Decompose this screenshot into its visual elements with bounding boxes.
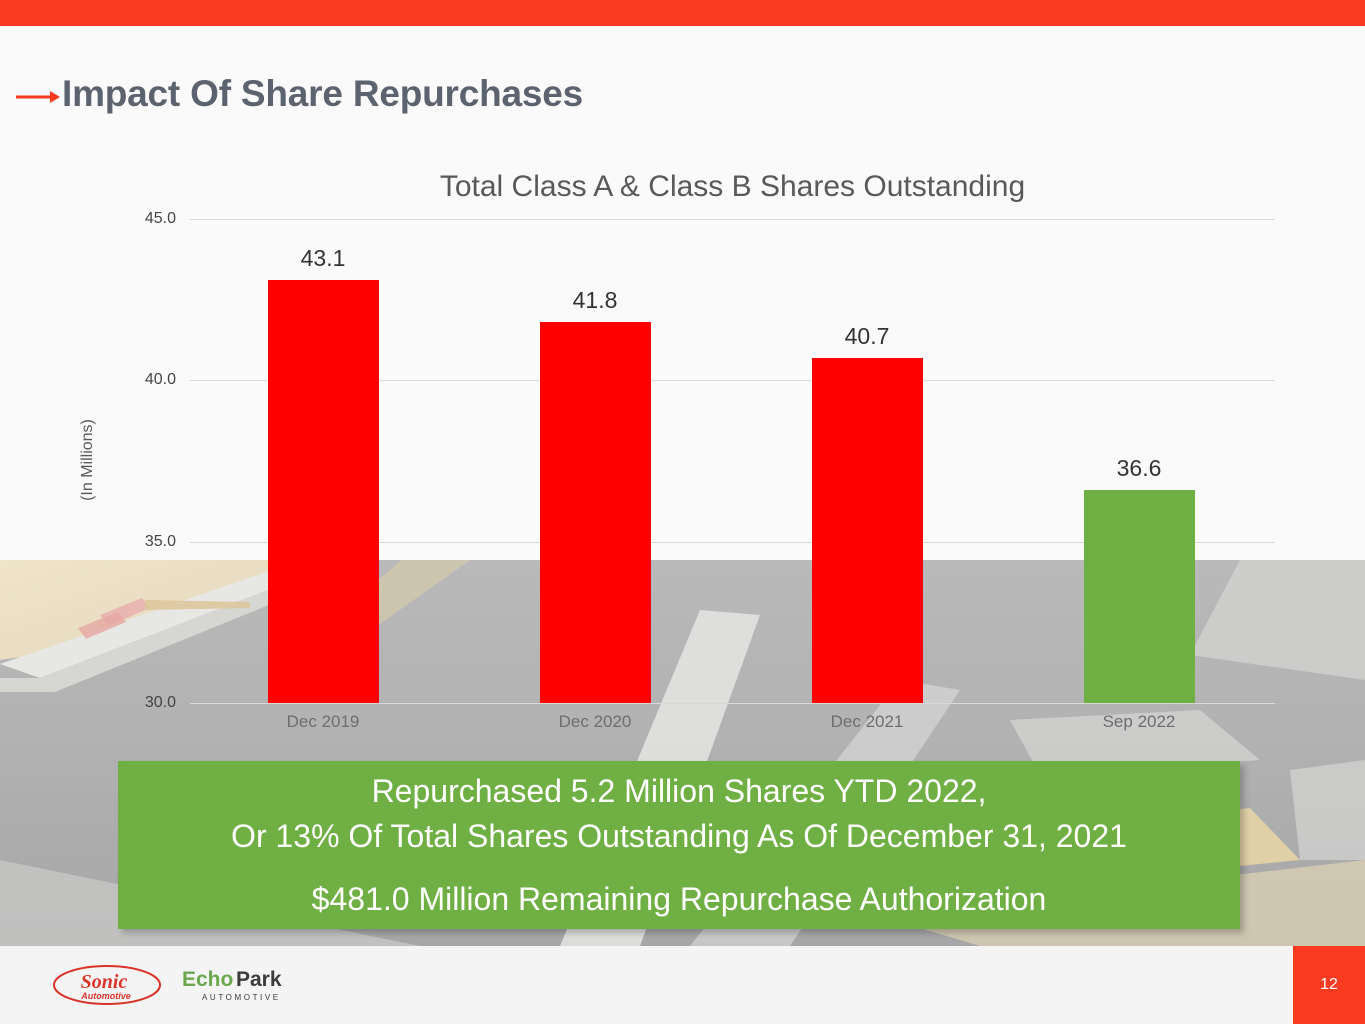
bar-dec-2021 (812, 358, 923, 703)
echo-wordmark: Echo (182, 968, 233, 991)
chart-title: Total Class A & Class B Shares Outstandi… (190, 170, 1275, 204)
gridline-30 (190, 703, 1275, 704)
page-title: Impact Of Share Repurchases (62, 66, 583, 122)
slide: Impact Of Share Repurchases (0, 0, 1365, 1024)
y-tick-label: 45.0 (110, 210, 176, 228)
x-axis-label-dec-2019: Dec 2019 (223, 712, 423, 732)
sonic-automotive-logo: Sonic Automotive (52, 964, 162, 1006)
y-tick-label: 40.0 (110, 371, 176, 389)
bar-dec-2019 (268, 280, 379, 703)
bar-chart: Total Class A & Class B Shares Outstandi… (0, 150, 1365, 750)
slide-title-row: Impact Of Share Repurchases (0, 66, 900, 128)
callout-line-3: $481.0 Million Remaining Repurchase Auth… (312, 877, 1047, 922)
bar-value-label: 40.7 (792, 323, 942, 350)
x-axis-label-sep-2022: Sep 2022 (1039, 712, 1239, 732)
x-axis-label-dec-2020: Dec 2020 (495, 712, 695, 732)
y-axis-label: (In Millions) (79, 370, 97, 550)
park-wordmark: Park (236, 968, 282, 991)
page-number-badge: 12 (1293, 946, 1365, 1024)
callout-line-1: Repurchased 5.2 Million Shares YTD 2022, (372, 769, 987, 814)
bar-sep-2022 (1084, 490, 1195, 703)
x-axis-label-dec-2021: Dec 2021 (767, 712, 967, 732)
echopark-automotive-logo: Echo Park AUTOMOTIVE (180, 964, 300, 1006)
footer: Sonic Automotive Echo Park AUTOMOTIVE 12 (0, 946, 1365, 1024)
bar-value-label: 36.6 (1064, 455, 1214, 482)
bar-value-label: 43.1 (248, 245, 398, 272)
callout-line-2: Or 13% Of Total Shares Outstanding As Of… (231, 814, 1127, 859)
callout-box: Repurchased 5.2 Million Shares YTD 2022,… (118, 761, 1240, 929)
gridline-45 (190, 219, 1275, 220)
arrow-right-icon (16, 88, 60, 106)
bar-dec-2020 (540, 322, 651, 703)
sonic-wordmark: Sonic (81, 971, 128, 993)
bar-value-label: 41.8 (520, 287, 670, 314)
top-accent-bar (0, 0, 1365, 26)
echopark-tagline: AUTOMOTIVE (202, 993, 281, 1002)
y-tick-label: 35.0 (110, 533, 176, 551)
sonic-tagline: Automotive (80, 991, 131, 1001)
y-tick-label: 30.0 (110, 694, 176, 712)
